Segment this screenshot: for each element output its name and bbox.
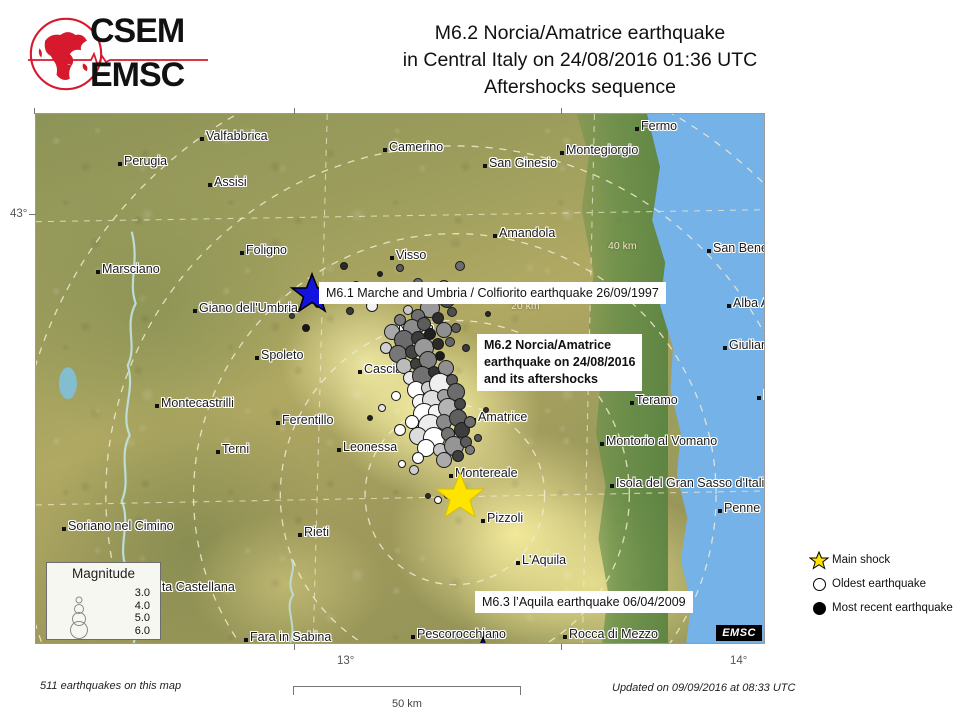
legend-row-recent: Most recent earthquake (806, 596, 958, 620)
earthquake-count: 511 earthquakes on this map (40, 680, 181, 692)
city-marker (390, 256, 394, 260)
earthquake-marker (436, 322, 452, 338)
callout-laquila: M6.3 l’Aquila earthquake 06/04/2009 (475, 591, 693, 613)
map-tick-top-left (34, 108, 35, 114)
earthquake-marker (378, 404, 386, 412)
earthquake-marker (483, 407, 489, 413)
callout-norcia-line-3: and its aftershocks (484, 371, 635, 388)
city-marker (383, 148, 387, 152)
map-container[interactable]: 40 km 20 km ValfabbricaPerugiaAssisiCame… (35, 113, 765, 644)
updated-timestamp: Updated on 09/09/2016 at 08:33 UTC (612, 682, 795, 694)
magnitude-legend-title: Magnitude (47, 566, 160, 581)
magnitude-legend-values: 3.0 4.0 5.0 6.0 (135, 587, 150, 637)
city-marker (200, 137, 204, 141)
earthquake-marker (412, 452, 424, 464)
ring-label-40km: 40 km (608, 240, 637, 252)
city-marker (718, 509, 722, 513)
callout-norcia-amatrice: M6.2 Norcia/Amatrice earthquake on 24/08… (477, 334, 642, 391)
city-marker (155, 404, 159, 408)
city-marker (298, 533, 302, 537)
title-line-3: Aftershocks sequence (250, 74, 910, 101)
legend-row-main-shock: Main shock (806, 548, 958, 572)
earthquake-marker (447, 307, 457, 317)
title-line-2: in Central Italy on 24/08/2016 01:36 UTC (250, 47, 910, 74)
earthquake-marker (452, 450, 464, 462)
earthquake-marker (432, 338, 444, 350)
earthquake-marker (464, 416, 476, 428)
city-marker (244, 638, 248, 642)
earthquake-marker (340, 262, 348, 270)
city-marker (483, 164, 487, 168)
earthquake-marker (462, 344, 470, 352)
magnitude-legend: Magnitude 3.0 4.0 5.0 6.0 (46, 562, 161, 640)
earthquake-marker (302, 324, 310, 332)
magnitude-value-4: 4.0 (135, 600, 150, 613)
callout-colfiorito: M6.1 Marche and Umbria / Colfiorito eart… (319, 282, 666, 304)
earthquake-marker (409, 465, 419, 475)
legend-label-main-shock: Main shock (832, 554, 890, 566)
map-tick-top-mid (294, 108, 295, 114)
city-marker (560, 151, 564, 155)
symbol-legend: Main shock Oldest earthquake Most recent… (806, 548, 958, 620)
city-marker (493, 234, 497, 238)
city-marker (635, 127, 639, 131)
city-marker (516, 561, 520, 565)
scale-bar-label: 50 km (293, 698, 521, 710)
city-marker (358, 370, 362, 374)
city-marker (600, 442, 604, 446)
city-marker (216, 450, 220, 454)
legend-row-oldest: Oldest earthquake (806, 572, 958, 596)
main-shock-star-icon (434, 470, 486, 520)
earthquake-marker (377, 271, 383, 277)
logo-text-csem: CSEM (90, 12, 240, 50)
callout-norcia-line-1: M6.2 Norcia/Amatrice (484, 337, 635, 354)
emsc-watermark: EMSC (716, 625, 762, 641)
city-marker (276, 421, 280, 425)
earthquake-marker (346, 307, 354, 315)
map-tick-top-right (561, 108, 562, 114)
seismic-map[interactable]: 40 km 20 km ValfabbricaPerugiaAssisiCame… (35, 113, 765, 644)
city-marker (193, 309, 197, 313)
earthquake-marker (445, 337, 455, 347)
emsc-logo: CSEM EMSC (28, 10, 238, 98)
earthquake-marker (394, 424, 406, 436)
city-marker (630, 401, 634, 405)
magnitude-value-5: 5.0 (135, 612, 150, 625)
page-title: M6.2 Norcia/Amatrice earthquake in Centr… (250, 20, 910, 101)
earthquake-marker (474, 434, 482, 442)
city-marker (707, 249, 711, 253)
magnitude-value-6: 6.0 (135, 625, 150, 638)
city-marker (610, 484, 614, 488)
laquila-2009-star-icon (460, 636, 506, 644)
latitude-label-43: 43° (10, 208, 27, 220)
magnitude-value-3: 3.0 (135, 587, 150, 600)
map-tick-bottom-13 (294, 644, 295, 650)
legend-oldest-circle-icon (806, 578, 832, 591)
earthquake-marker (391, 391, 401, 401)
magnitude-circles-icon (55, 585, 103, 639)
city-marker (723, 346, 727, 350)
earthquake-marker (436, 452, 452, 468)
city-marker (240, 251, 244, 255)
longitude-label-14: 14° (730, 655, 747, 667)
earthquake-marker (425, 493, 431, 499)
earthquake-marker (367, 415, 373, 421)
city-marker (727, 304, 731, 308)
logo-text-emsc: EMSC (90, 56, 240, 94)
legend-recent-circle-icon (806, 602, 832, 615)
longitude-label-13: 13° (337, 655, 354, 667)
scale-bar-line (293, 686, 521, 695)
callout-norcia-line-2: earthquake on 24/08/2016 (484, 354, 635, 371)
map-tick-bottom-14 (561, 644, 562, 650)
earthquake-marker (465, 445, 475, 455)
legend-label-oldest: Oldest earthquake (832, 578, 926, 590)
map-tick-left-lat (29, 214, 36, 215)
city-marker (208, 183, 212, 187)
earthquake-marker (396, 264, 404, 272)
city-marker (62, 527, 66, 531)
earthquake-marker (403, 305, 413, 315)
earthquake-marker (455, 261, 465, 271)
legend-label-recent: Most recent earthquake (832, 602, 953, 614)
city-marker (255, 356, 259, 360)
city-marker (757, 396, 761, 400)
earthquake-marker (398, 460, 406, 468)
city-marker (411, 635, 415, 639)
city-marker (96, 270, 100, 274)
city-marker (563, 635, 567, 639)
city-marker (337, 448, 341, 452)
city-marker (118, 162, 122, 166)
earthquake-marker (451, 323, 461, 333)
earthquake-marker (485, 311, 491, 317)
title-line-1: M6.2 Norcia/Amatrice earthquake (250, 20, 910, 47)
legend-main-shock-star-icon (806, 551, 832, 570)
